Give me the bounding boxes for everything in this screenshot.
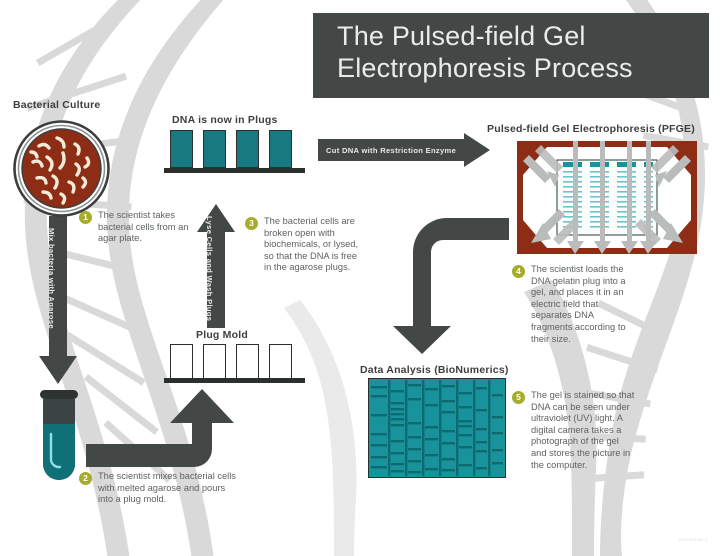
heading-plug-mold: Plug Mold bbox=[196, 329, 248, 341]
dna-plugs-graphic bbox=[170, 130, 305, 176]
step-3-text: The bacterial cells are broken open with… bbox=[264, 216, 363, 274]
step-4-text: The scientist loads the DNA gelatin plug… bbox=[531, 264, 636, 345]
dna-plug bbox=[269, 130, 292, 168]
dna-plugs-base bbox=[164, 168, 305, 173]
step-4-number: 4 bbox=[512, 265, 525, 278]
infographic-canvas: The Pulsed-field Gel Electrophoresis Pro… bbox=[0, 0, 720, 556]
pfge-gel-diagram bbox=[517, 141, 697, 254]
plug-mold-cell bbox=[236, 344, 259, 378]
arrow-label-mix-agarose: Mix bacteria with Agarose bbox=[47, 228, 56, 329]
arrow-lyse-wash bbox=[196, 204, 236, 328]
step-1-text: The scientist takes bacterial cells from… bbox=[98, 210, 197, 245]
step-2-number: 2 bbox=[79, 472, 92, 485]
dna-plug bbox=[170, 130, 193, 168]
arrow-mix-agarose bbox=[38, 216, 78, 386]
title-line-2: Electrophoresis Process bbox=[337, 52, 709, 84]
step-2-text: The scientist mixes bacterial cells with… bbox=[98, 471, 241, 506]
plug-mold-cell bbox=[269, 344, 292, 378]
page-title: The Pulsed-field Gel Electrophoresis Pro… bbox=[337, 20, 709, 84]
arrow-pfge-to-analysis bbox=[393, 218, 509, 354]
plug-mold-cell bbox=[170, 344, 193, 378]
heading-bacterial-culture: Bacterial Culture bbox=[13, 99, 100, 111]
step-5-text: The gel is stained so that DNA can be se… bbox=[531, 390, 636, 471]
step-3-number: 3 bbox=[245, 217, 258, 230]
bionumerics-gel-bands bbox=[368, 378, 506, 478]
test-tube-icon bbox=[33, 388, 85, 488]
heading-dna-in-plugs: DNA is now in Plugs bbox=[172, 114, 278, 126]
dna-plug bbox=[203, 130, 226, 168]
heading-pfge: Pulsed-field Gel Electrophoresis (PFGE) bbox=[487, 123, 695, 135]
step-1-number: 1 bbox=[79, 211, 92, 224]
heading-data-analysis: Data Analysis (BioNumerics) bbox=[360, 364, 509, 376]
dna-plug bbox=[236, 130, 259, 168]
title-line-1: The Pulsed-field Gel bbox=[337, 20, 709, 52]
step-5-number: 5 bbox=[512, 391, 525, 404]
plug-mold-base bbox=[164, 378, 305, 383]
petri-dish-icon bbox=[13, 120, 110, 217]
footer-code: CS239185-A bbox=[679, 537, 708, 542]
plug-mold-cell bbox=[203, 344, 226, 378]
arrow-label-lyse-wash: Lyse Cells and Wash Plugs bbox=[205, 216, 214, 321]
plug-mold-graphic bbox=[170, 344, 305, 386]
arrow-tube-to-plug-mold bbox=[86, 387, 246, 472]
arrow-label-cut-dna: Cut DNA with Restriction Enzyme bbox=[326, 146, 456, 155]
